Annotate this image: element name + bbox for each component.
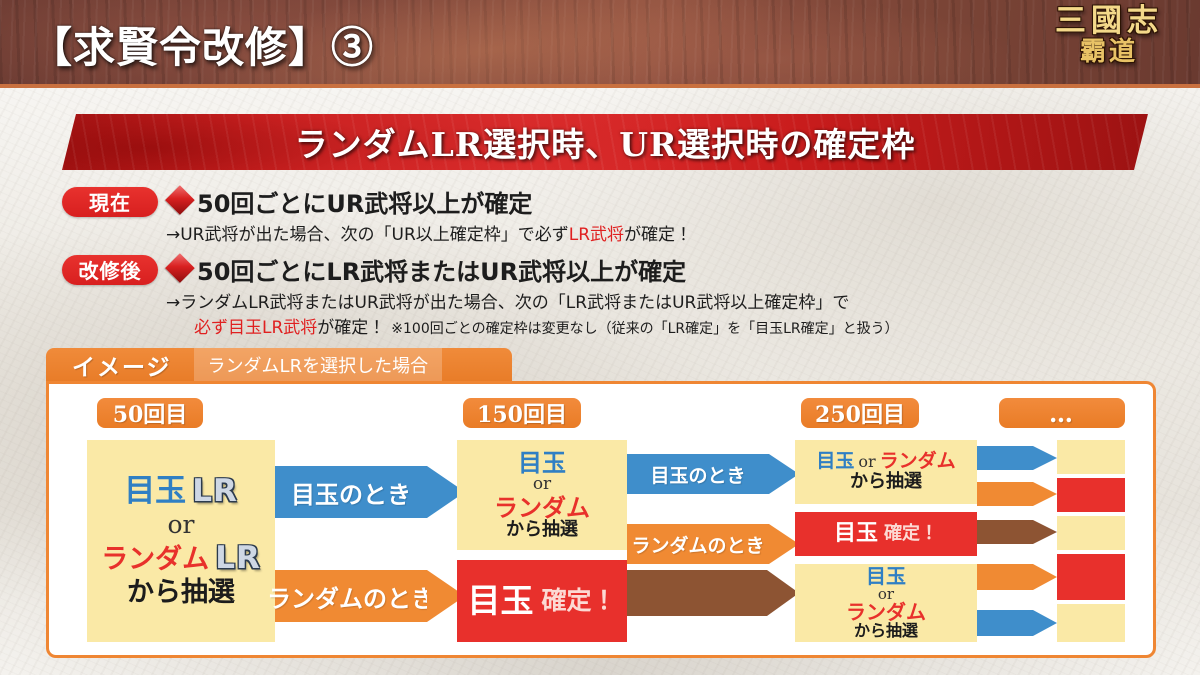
- flow-box-last-3: [1057, 516, 1125, 550]
- game-logo: 三國志 霸道: [1034, 2, 1184, 86]
- col3-bottom-random: ランダム: [846, 602, 926, 623]
- flow-box-last-2: [1057, 478, 1125, 512]
- current-headline: 50回ごとにUR武将以上が確定: [197, 184, 532, 219]
- current-detail-pre: →UR武将が出た場合、次の「UR以上確定枠」で必ず: [166, 225, 569, 245]
- column-pill-more: …: [999, 398, 1125, 428]
- arrow-col3-blue-1: [977, 446, 1057, 470]
- col1-from-draw: から抽選: [127, 579, 235, 607]
- flow-box-col3-red: 目玉 確定！: [795, 512, 977, 556]
- col3-red-kakutei: 確定！: [884, 525, 938, 544]
- image-panel-tab-label: イメージ: [72, 348, 172, 382]
- section-banner-title: ランダムLR選択時、UR選択時の確定枠: [295, 118, 916, 166]
- flow-box-col3-bottom: 目玉 or ランダム から抽選: [795, 564, 977, 642]
- current-detail-highlight: LR武将: [569, 225, 624, 245]
- arrow-col2-random-label: ランダムのとき: [631, 531, 764, 558]
- col1-or: or: [167, 512, 194, 538]
- arrow-col1-medama: 目玉のとき: [275, 466, 465, 518]
- col2-red-kakutei: 確定！: [541, 588, 616, 614]
- diamond-bullet-icon: [165, 185, 195, 215]
- logo-main-text: 三國志: [1055, 6, 1163, 37]
- revised-detail-post: が確定！: [317, 318, 385, 338]
- col2-random: ランダム: [494, 495, 590, 520]
- arrow-col2-medama: 目玉のとき: [627, 454, 799, 494]
- col3-red-medama: 目玉: [834, 522, 878, 545]
- arrow-col3-orange-1: [977, 482, 1057, 506]
- col1-random-label: ランダム: [101, 546, 209, 574]
- revised-headline: 50回ごとにLR武将またはUR武将以上が確定: [197, 252, 686, 287]
- col3-top-line1: 目玉 or ランダム: [816, 452, 955, 472]
- col1-line1: 目玉 LR: [124, 475, 238, 508]
- column-pill-150: 150回目: [463, 398, 581, 428]
- arrow-col2-medama-label: 目玉のとき: [650, 461, 745, 488]
- status-badge-current: 現在: [62, 187, 158, 217]
- section-banner: ランダムLR選択時、UR選択時の確定枠: [62, 114, 1148, 170]
- image-panel: イメージ ランダムLRを選択した場合 50回目 150回目 250回目 … 目玉…: [46, 348, 1156, 658]
- header-bar: 【求賢令改修】③: [0, 0, 1200, 88]
- column-pill-250: 250回目: [801, 398, 919, 428]
- col1-lr-chip-bottom: LR: [215, 542, 261, 575]
- col1-medama-label: 目玉: [124, 475, 186, 508]
- current-detail-post: が確定！: [624, 225, 692, 245]
- col2-medama: 目玉: [518, 450, 566, 475]
- col3-bottom-from-draw: から抽選: [854, 623, 918, 640]
- logo-sub-text: 霸道: [1080, 39, 1138, 65]
- arrow-col3-brown-1: [977, 520, 1057, 544]
- flow-box-col1: 目玉 LR or ランダム LR から抽選: [87, 440, 275, 642]
- comparison-row-current: 現在50回ごとにUR武将以上が確定 →UR武将が出た場合、次の「UR以上確定枠」…: [62, 184, 1152, 242]
- col3-top-from-draw: から抽選: [850, 473, 922, 492]
- col3-top-random: ランダム: [880, 452, 956, 472]
- col2-red-medama: 目玉: [467, 584, 533, 619]
- diamond-bullet-icon-2: [165, 253, 195, 283]
- arrow-col2-random: ランダムのとき: [627, 524, 799, 564]
- flow-box-last-5: [1057, 604, 1125, 642]
- flow-box-col2-red: 目玉 確定！: [457, 560, 627, 642]
- col2-from-draw: から抽選: [506, 521, 578, 540]
- revised-detail: →ランダムLR武将またはUR武将が出た場合、次の「LR武将またはUR武将以上確定…: [166, 288, 1152, 313]
- revised-note: ※100回ごとの確定枠は変更なし（従来の「LR確定」を「目玉LR確定」と扱う）: [391, 321, 898, 337]
- column-pill-50: 50回目: [97, 398, 203, 428]
- current-detail: →UR武将が出た場合、次の「UR以上確定枠」で必ずLR武将が確定！: [166, 220, 1152, 245]
- image-panel-tab-sublabel: ランダムLRを選択した場合: [194, 348, 443, 382]
- revised-detail-pre: →ランダムLR武将またはUR武将が出た場合、次の「LR武将またはUR武将以上確定…: [166, 293, 849, 313]
- revised-detail-highlight: 必ず目玉LR武将: [194, 318, 317, 338]
- arrow-col2-brown: [627, 570, 799, 616]
- status-badge-revised: 改修後: [62, 255, 158, 285]
- flow-box-col2-yellow: 目玉 or ランダム から抽選: [457, 440, 627, 550]
- image-panel-body: 50回目 150回目 250回目 … 目玉 LR or ランダム LR から抽選…: [46, 381, 1156, 658]
- arrow-col3-orange-2: [977, 564, 1057, 590]
- page-title: 【求賢令改修】③: [30, 14, 374, 75]
- col1-line3: ランダム LR: [101, 542, 261, 575]
- revised-detail-line2: 必ず目玉LR武将が確定！※100回ごとの確定枠は変更なし（従来の「LR確定」を「…: [194, 313, 1152, 338]
- image-panel-tab: イメージ ランダムLRを選択した場合: [46, 348, 512, 382]
- comparison-row-revised: 改修後50回ごとにLR武将またはUR武将以上が確定 →ランダムLR武将またはUR…: [62, 252, 1152, 324]
- arrow-col3-blue-2: [977, 610, 1057, 636]
- col3-top-or: or: [858, 454, 875, 471]
- col3-top-medama: 目玉: [816, 452, 854, 472]
- comparison-block: 現在50回ごとにUR武将以上が確定 →UR武将が出た場合、次の「UR以上確定枠」…: [62, 184, 1152, 324]
- flow-box-col3-top: 目玉 or ランダム から抽選: [795, 440, 977, 504]
- col1-lr-chip-top: LR: [192, 475, 238, 508]
- flow-box-last-1: [1057, 440, 1125, 474]
- arrow-col1-random-label: ランダムのとき: [267, 579, 435, 614]
- arrow-col1-random: ランダムのとき: [275, 570, 465, 622]
- flow-box-last-4: [1057, 554, 1125, 600]
- arrow-col1-medama-label: 目玉のとき: [291, 475, 411, 510]
- col3-bottom-medama: 目玉: [866, 566, 906, 587]
- col2-or: or: [533, 476, 551, 494]
